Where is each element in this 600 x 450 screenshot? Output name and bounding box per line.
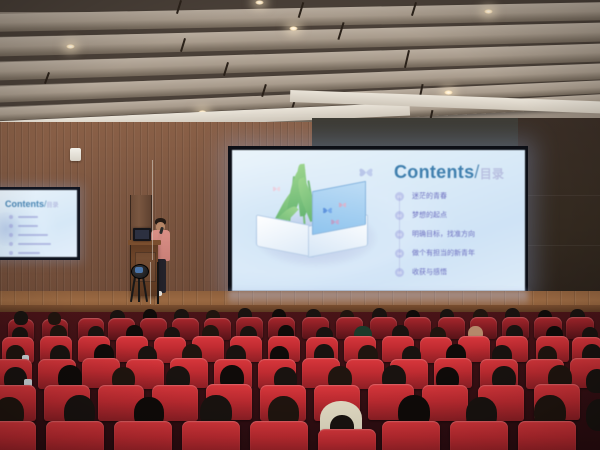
audience-head: [48, 312, 61, 325]
bullet-label: 迷茫的青春: [412, 191, 447, 201]
seat[interactable]: [46, 421, 104, 450]
seat[interactable]: [382, 421, 440, 450]
bullet-number-text: 02: [397, 213, 401, 218]
wall-panel-seam: [518, 195, 600, 196]
downlight: [484, 9, 493, 14]
bullet-number-text: 03: [397, 232, 401, 237]
side-slide-title: Contents/目录: [5, 199, 59, 209]
seat[interactable]: [182, 421, 240, 450]
seat[interactable]: [0, 421, 36, 450]
side-bullet-text: [18, 243, 51, 245]
slide-title: Contents/目录: [394, 162, 504, 183]
bullet-label: 梦想的起点: [412, 210, 447, 220]
slide-title-en: Contents: [394, 162, 474, 182]
seat[interactable]: [450, 421, 508, 450]
seat[interactable]: [318, 429, 376, 450]
bullet-item: 05 收获与感悟: [395, 267, 520, 277]
side-projection-screen: Contents/目录: [0, 190, 77, 257]
downlight: [66, 44, 75, 49]
butterfly-icon: [272, 180, 281, 188]
camera-lens-icon: [135, 267, 143, 273]
bullet-number: 03: [395, 230, 404, 239]
downlight: [255, 0, 264, 5]
audience-head: [14, 311, 28, 325]
side-bullet-dot: [9, 233, 13, 237]
bullet-item: 02 梦想的起点: [395, 210, 520, 220]
butterfly-icon: [358, 166, 374, 179]
bullet-number-text: 01: [397, 194, 401, 199]
side-bullet-dot: [9, 242, 13, 246]
wall-panel-seam: [518, 245, 600, 246]
seat[interactable]: [250, 421, 308, 450]
bullet-label: 做个有担当的新青年: [412, 248, 475, 258]
auditorium-photo: Contents/目录: [0, 0, 600, 450]
bullet-item: 04 做个有担当的新青年: [395, 248, 520, 258]
laptop-screen: [135, 230, 149, 239]
side-bullet-text: [18, 216, 38, 218]
seat[interactable]: [114, 421, 172, 450]
downlight: [289, 26, 298, 31]
butterfly-icon: [322, 202, 333, 211]
audience-head: [586, 369, 600, 393]
downlight: [444, 90, 453, 95]
butterfly-icon: [338, 196, 347, 204]
side-bullet-dot: [9, 215, 13, 219]
bullet-number: 02: [395, 211, 404, 220]
bullet-label: 明确目标，找准方向: [412, 229, 475, 239]
wall-speaker-icon: [70, 148, 81, 161]
slide-title-cjk: 目录: [480, 167, 505, 181]
slide-bullet-list: 01 迷茫的青春 02 梦想的起点 03 明确目标，找准方向 04: [395, 191, 520, 277]
main-projection-screen[interactable]: Contents/目录 01 迷茫的青春 02 梦想的起点 03: [232, 150, 525, 291]
bullet-item: 03 明确目标，找准方向: [395, 229, 520, 239]
bullet-item: 01 迷茫的青春: [395, 191, 520, 201]
side-bullet-text: [18, 234, 48, 236]
side-bullet-text: [18, 252, 40, 254]
floor-cable: [152, 160, 159, 260]
side-title-cjk: 目录: [47, 203, 59, 209]
dark-wall-right: [518, 118, 600, 313]
bullet-number: 01: [395, 192, 404, 201]
audience-area: [0, 305, 600, 450]
side-title-en: Contents: [5, 199, 44, 209]
book-illustration: [250, 158, 380, 276]
audience-head: [586, 399, 600, 431]
side-bullet-dot: [9, 224, 13, 228]
side-bullet-dot: [9, 251, 13, 255]
bullet-number-text: 05: [397, 270, 401, 275]
bullet-number: 05: [395, 268, 404, 277]
side-bullet-text: [18, 225, 38, 227]
bullet-number-text: 04: [397, 251, 401, 256]
butterfly-icon: [330, 213, 340, 221]
bullet-label: 收获与感悟: [412, 267, 447, 277]
floor-cable: [150, 262, 161, 304]
seat[interactable]: [518, 421, 576, 450]
bullet-number: 04: [395, 249, 404, 258]
